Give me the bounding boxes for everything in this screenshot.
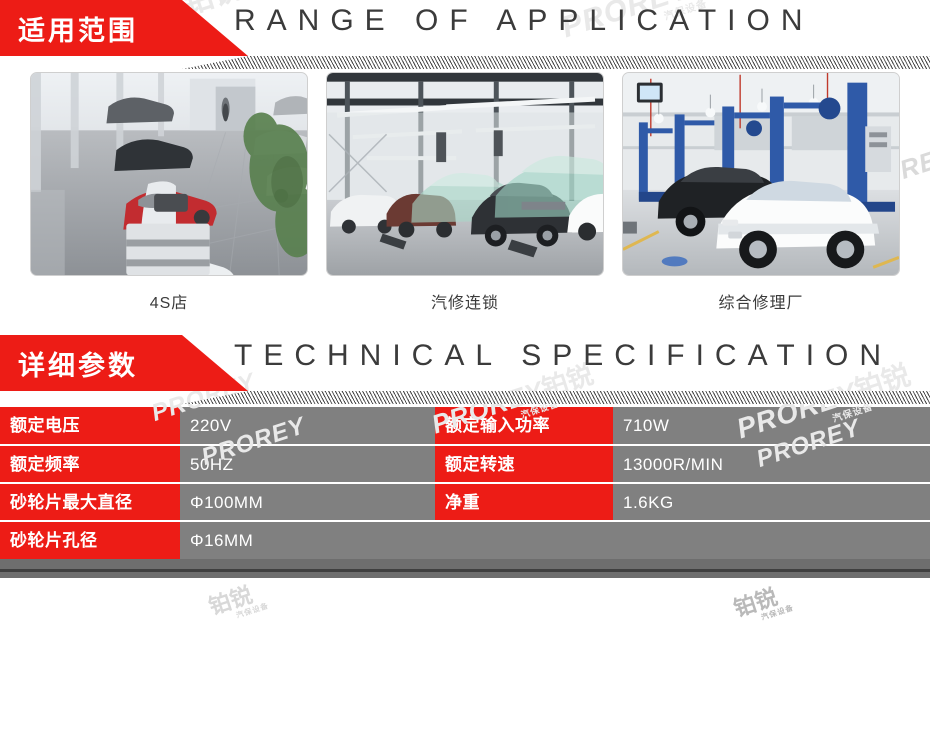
spec-label: 额定输入功率	[435, 407, 613, 445]
spec-value: 220V	[180, 407, 435, 445]
spec-label: 砂轮片最大直径	[0, 483, 180, 521]
table-bottom-border	[0, 559, 930, 572]
section-title-en: RANGE OF APPLICATION	[234, 4, 814, 38]
application-image-row: 4S店	[0, 72, 930, 313]
spec-label: 砂轮片孔径	[0, 521, 180, 559]
section-banner-application: 适用范围	[0, 0, 248, 56]
section-title-cn: 适用范围	[18, 9, 138, 48]
table-row: 砂轮片孔径 Φ16MM	[0, 521, 930, 559]
spec-value: Φ100MM	[180, 483, 435, 521]
section-title-cn: 详细参数	[18, 344, 138, 383]
section-title-en: TECHNICAL SPECIFICATION	[234, 339, 892, 373]
spec-label: 额定频率	[0, 445, 180, 483]
spec-value: 710W	[613, 407, 930, 445]
watermark: 铂锐汽保设备	[731, 586, 782, 629]
watermark-cn: 铂锐	[731, 584, 781, 621]
application-caption: 汽修连锁	[326, 289, 604, 313]
hatch-stripe-decoration	[182, 391, 930, 404]
spec-label: 净重	[435, 483, 613, 521]
spec-value: 50HZ	[180, 445, 435, 483]
watermark-cn: 铂锐	[206, 582, 256, 619]
table-row: 砂轮片最大直径 Φ100MM 净重 1.6KG	[0, 483, 930, 521]
watermark: 铂锐汽保设备	[206, 584, 257, 627]
application-item: 综合修理厂	[622, 72, 900, 313]
watermark-sub: 汽保设备	[235, 606, 257, 620]
section-header-application: 适用范围 RANGE OF APPLICATION	[0, 0, 930, 72]
spec-value: Φ16MM	[180, 521, 930, 559]
section-header-specification: 详细参数 TECHNICAL SPECIFICATION	[0, 335, 930, 407]
general-repair-service-bay-photo	[622, 72, 900, 276]
car-dealership-showroom-photo	[30, 72, 308, 276]
application-caption: 4S店	[30, 289, 308, 313]
specification-table: 额定电压 220V 额定输入功率 710W 额定频率 50HZ 额定转速 130…	[0, 407, 930, 559]
hatch-stripe-decoration	[182, 56, 930, 69]
spec-label: 额定转速	[435, 445, 613, 483]
table-row: 额定电压 220V 额定输入功率 710W	[0, 407, 930, 445]
specification-table-wrapper: 额定电压 220V 额定输入功率 710W 额定频率 50HZ 额定转速 130…	[0, 407, 930, 578]
product-detail-page: PROREY铂锐汽保设备 PROREY铂锐汽保设备 PROREY铂锐 适用范围 …	[0, 0, 930, 731]
spec-value: 1.6KG	[613, 483, 930, 521]
table-row: 额定频率 50HZ 额定转速 13000R/MIN	[0, 445, 930, 483]
spec-value: 13000R/MIN	[613, 445, 930, 483]
application-caption: 综合修理厂	[622, 289, 900, 313]
auto-repair-chain-workshop-photo	[326, 72, 604, 276]
section-banner-specification: 详细参数	[0, 335, 248, 391]
watermark-sub: 汽保设备	[760, 608, 782, 622]
application-item: 4S店	[30, 72, 308, 313]
spec-label: 额定电压	[0, 407, 180, 445]
application-item: 汽修连锁	[326, 72, 604, 313]
